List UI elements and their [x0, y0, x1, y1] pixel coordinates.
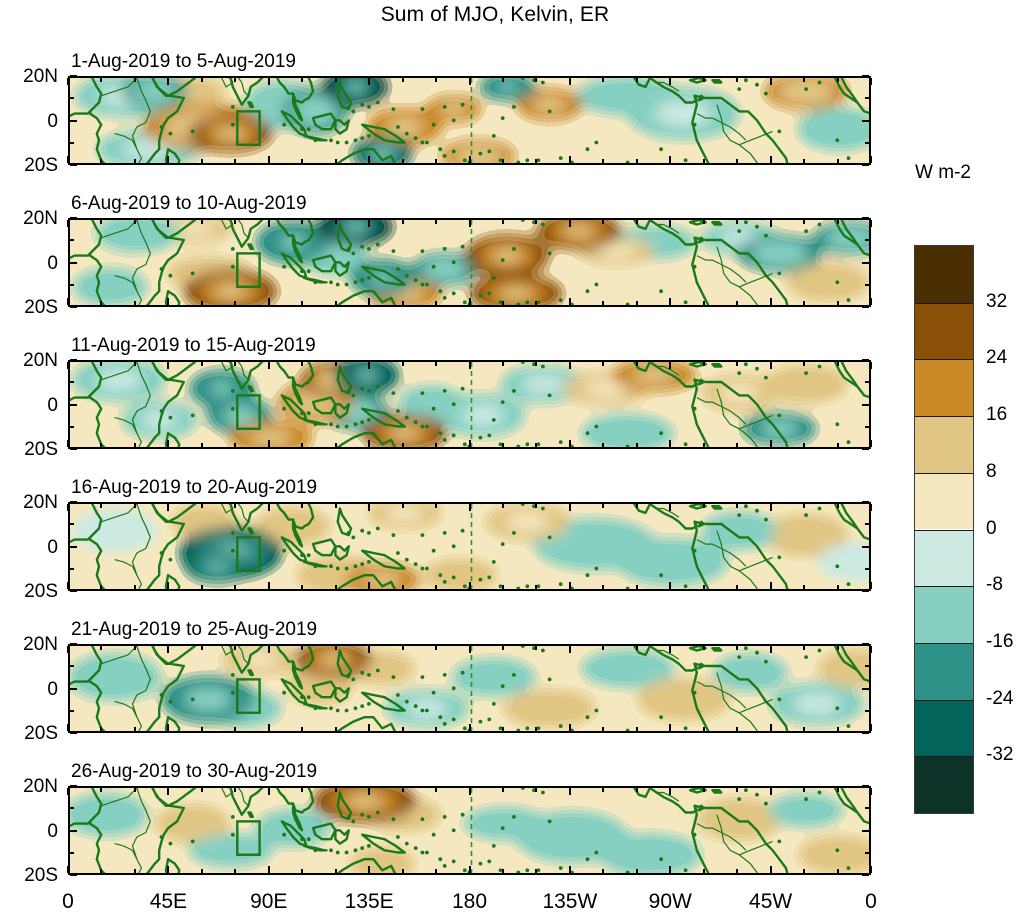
x-tick-mark	[134, 504, 136, 508]
x-tick-mark	[803, 362, 805, 366]
y-tick-mark	[70, 448, 77, 450]
x-tick-mark	[67, 440, 69, 447]
x-tick-mark	[602, 443, 604, 447]
x-tick-mark	[602, 869, 604, 873]
x-tick-mark	[669, 504, 671, 511]
x-tick-mark	[837, 159, 839, 163]
x-tick-mark	[636, 78, 638, 82]
y-tick-mark	[865, 381, 869, 383]
x-tick-mark	[435, 869, 437, 873]
x-tick-mark	[770, 362, 772, 369]
y-tick-mark	[70, 568, 74, 570]
x-tick-mark	[803, 159, 805, 163]
colorbar-tick-label: -8	[986, 575, 1003, 594]
x-tick-mark	[502, 585, 504, 589]
x-tick-mark	[469, 78, 471, 85]
x-tick-mark	[134, 727, 136, 731]
x-tick-mark	[736, 727, 738, 731]
x-tick-mark	[167, 220, 169, 227]
x-tick-mark	[268, 866, 270, 873]
x-tick-mark	[870, 298, 872, 305]
y-tick-mark	[862, 262, 869, 264]
x-tick-mark	[803, 220, 805, 224]
x-axis-tick-label: 0	[821, 891, 921, 912]
y-tick-mark	[865, 239, 869, 241]
x-tick-mark	[301, 301, 303, 305]
y-tick-mark	[70, 262, 77, 264]
x-tick-mark	[234, 504, 236, 508]
x-tick-mark	[67, 646, 69, 653]
x-tick-mark	[770, 298, 772, 305]
x-tick-mark	[435, 727, 437, 731]
x-tick-mark	[100, 301, 102, 305]
y-tick-label: 0	[0, 396, 58, 415]
map-plot-area	[68, 786, 871, 875]
x-tick-mark	[535, 362, 537, 366]
x-tick-mark	[100, 362, 102, 366]
x-tick-mark	[335, 727, 337, 731]
x-tick-mark	[837, 504, 839, 508]
y-tick-mark	[862, 359, 869, 361]
x-tick-mark	[402, 159, 404, 163]
y-tick-mark	[862, 501, 869, 503]
y-tick-mark	[862, 732, 869, 734]
x-tick-mark	[402, 869, 404, 873]
x-tick-mark	[234, 443, 236, 447]
x-tick-mark	[201, 301, 203, 305]
x-tick-mark	[636, 727, 638, 731]
y-tick-mark	[862, 448, 869, 450]
x-tick-mark	[301, 727, 303, 731]
x-tick-mark	[167, 866, 169, 873]
colorbar-tick-label: 8	[986, 462, 997, 481]
x-tick-mark	[870, 220, 872, 227]
x-tick-mark	[435, 788, 437, 792]
x-tick-mark	[67, 362, 69, 369]
y-tick-label: 20N	[0, 209, 58, 228]
x-tick-mark	[234, 301, 236, 305]
x-tick-mark	[837, 788, 839, 792]
x-tick-mark	[134, 159, 136, 163]
panel-date-range: 1-Aug-2019 to 5-Aug-2019	[71, 52, 296, 71]
x-tick-mark	[368, 646, 370, 653]
x-tick-mark	[636, 301, 638, 305]
y-tick-label: 0	[0, 254, 58, 273]
x-tick-mark	[134, 220, 136, 224]
x-tick-mark	[67, 156, 69, 163]
x-tick-mark	[703, 301, 705, 305]
panel-date-range: 26-Aug-2019 to 30-Aug-2019	[71, 762, 317, 781]
x-tick-mark	[770, 788, 772, 795]
colorbar-band	[915, 359, 973, 416]
x-tick-mark	[837, 869, 839, 873]
x-tick-mark	[134, 646, 136, 650]
x-tick-mark	[602, 646, 604, 650]
y-tick-mark	[865, 523, 869, 525]
x-tick-mark	[803, 788, 805, 792]
x-tick-mark	[201, 788, 203, 792]
x-tick-mark	[837, 646, 839, 650]
y-tick-mark	[70, 643, 77, 645]
x-tick-mark	[803, 443, 805, 447]
x-tick-mark	[469, 582, 471, 589]
y-tick-mark	[70, 426, 74, 428]
x-tick-mark	[100, 78, 102, 82]
y-tick-mark	[862, 306, 869, 308]
x-tick-mark	[535, 78, 537, 82]
x-tick-mark	[803, 585, 805, 589]
x-tick-mark	[368, 504, 370, 511]
panel-date-range: 11-Aug-2019 to 15-Aug-2019	[71, 336, 316, 355]
y-tick-mark	[865, 568, 869, 570]
x-tick-mark	[636, 504, 638, 508]
x-tick-mark	[167, 504, 169, 511]
x-tick-mark	[803, 727, 805, 731]
x-tick-mark	[736, 301, 738, 305]
x-tick-mark	[268, 582, 270, 589]
x-tick-mark	[602, 220, 604, 224]
x-tick-mark	[301, 646, 303, 650]
x-tick-mark	[636, 646, 638, 650]
x-tick-mark	[569, 788, 571, 795]
y-tick-label: 20N	[0, 351, 58, 370]
x-tick-mark	[100, 443, 102, 447]
x-tick-mark	[602, 585, 604, 589]
x-tick-mark	[435, 362, 437, 366]
colorbar-band	[915, 643, 973, 700]
y-tick-mark	[865, 665, 869, 667]
x-tick-mark	[502, 727, 504, 731]
panel-date-range: 16-Aug-2019 to 20-Aug-2019	[71, 478, 317, 497]
x-tick-mark	[201, 159, 203, 163]
x-tick-mark	[669, 156, 671, 163]
x-tick-mark	[502, 788, 504, 792]
y-tick-mark	[862, 120, 869, 122]
x-tick-mark	[736, 443, 738, 447]
y-tick-mark	[862, 785, 869, 787]
colorbar-band-separator	[915, 416, 973, 417]
x-tick-mark	[268, 362, 270, 369]
x-tick-mark	[167, 362, 169, 369]
x-axis-tick-label: 45E	[118, 891, 218, 912]
x-tick-mark	[167, 724, 169, 731]
x-tick-mark	[234, 727, 236, 731]
y-tick-label: 0	[0, 680, 58, 699]
x-tick-mark	[368, 156, 370, 163]
y-tick-mark	[70, 807, 74, 809]
x-tick-mark	[569, 220, 571, 227]
x-tick-mark	[870, 362, 872, 369]
panel-date-range: 6-Aug-2019 to 10-Aug-2019	[71, 194, 307, 213]
x-tick-mark	[569, 362, 571, 369]
y-tick-mark	[70, 501, 77, 503]
x-tick-mark	[201, 504, 203, 508]
x-tick-mark	[770, 78, 772, 85]
x-tick-mark	[100, 159, 102, 163]
y-tick-mark	[70, 239, 74, 241]
y-tick-mark	[862, 590, 869, 592]
x-tick-mark	[100, 727, 102, 731]
map-plot-area	[68, 360, 871, 449]
x-tick-mark	[669, 582, 671, 589]
x-tick-mark	[402, 362, 404, 366]
x-tick-mark	[703, 788, 705, 792]
y-tick-label: 20N	[0, 777, 58, 796]
x-tick-mark	[535, 220, 537, 224]
map-plot-area	[68, 644, 871, 733]
y-tick-mark	[865, 807, 869, 809]
colorbar-tick-label: 24	[986, 348, 1007, 367]
x-tick-mark	[502, 78, 504, 82]
x-tick-mark	[736, 585, 738, 589]
x-tick-mark	[669, 724, 671, 731]
x-tick-mark	[870, 440, 872, 447]
x-tick-mark	[268, 78, 270, 85]
x-axis-tick-label: 135E	[319, 891, 419, 912]
x-tick-mark	[469, 298, 471, 305]
x-tick-mark	[602, 301, 604, 305]
x-tick-mark	[803, 301, 805, 305]
x-tick-mark	[201, 220, 203, 224]
y-tick-mark	[70, 523, 74, 525]
x-tick-mark	[368, 298, 370, 305]
x-axis-tick-label: 90E	[219, 891, 319, 912]
colorbar-band-separator	[915, 530, 973, 531]
colorbar-band-separator	[915, 700, 973, 701]
x-tick-mark	[636, 869, 638, 873]
x-tick-mark	[100, 585, 102, 589]
x-tick-mark	[201, 727, 203, 731]
colorbar	[914, 245, 974, 814]
x-tick-mark	[167, 582, 169, 589]
colorbar-band-separator	[915, 359, 973, 360]
y-tick-label: 20S	[0, 582, 58, 601]
colorbar-band	[915, 416, 973, 473]
x-tick-mark	[770, 646, 772, 653]
map-plot-area	[68, 502, 871, 591]
x-tick-mark	[201, 869, 203, 873]
x-tick-mark	[669, 440, 671, 447]
x-tick-mark	[703, 504, 705, 508]
y-tick-label: 20S	[0, 866, 58, 885]
y-tick-mark	[862, 874, 869, 876]
x-tick-mark	[502, 220, 504, 224]
x-tick-mark	[268, 504, 270, 511]
x-tick-mark	[134, 362, 136, 366]
x-tick-mark	[201, 585, 203, 589]
x-tick-mark	[502, 362, 504, 366]
x-tick-mark	[669, 298, 671, 305]
x-tick-mark	[703, 585, 705, 589]
colorbar-band-separator	[915, 643, 973, 644]
x-tick-mark	[535, 727, 537, 731]
x-tick-mark	[703, 220, 705, 224]
x-tick-mark	[703, 727, 705, 731]
x-tick-mark	[469, 724, 471, 731]
y-tick-mark	[70, 830, 77, 832]
x-tick-mark	[435, 585, 437, 589]
x-tick-mark	[736, 159, 738, 163]
x-tick-mark	[770, 724, 772, 731]
y-tick-mark	[70, 142, 74, 144]
y-tick-mark	[862, 688, 869, 690]
x-tick-mark	[636, 220, 638, 224]
x-tick-mark	[569, 582, 571, 589]
y-tick-mark	[70, 404, 77, 406]
x-tick-mark	[268, 156, 270, 163]
x-tick-mark	[301, 159, 303, 163]
x-tick-mark	[435, 220, 437, 224]
x-tick-mark	[602, 504, 604, 508]
x-tick-mark	[803, 646, 805, 650]
x-tick-mark	[535, 646, 537, 650]
x-tick-mark	[602, 788, 604, 792]
x-tick-mark	[402, 727, 404, 731]
x-tick-mark	[569, 156, 571, 163]
colorbar-band-separator	[915, 473, 973, 474]
x-tick-mark	[636, 788, 638, 792]
colorbar-tick-label: 32	[986, 292, 1007, 311]
x-tick-mark	[100, 788, 102, 792]
y-tick-mark	[70, 590, 77, 592]
x-tick-mark	[435, 78, 437, 82]
x-tick-mark	[335, 362, 337, 366]
x-tick-mark	[402, 585, 404, 589]
x-tick-mark	[535, 869, 537, 873]
x-tick-mark	[870, 788, 872, 795]
x-tick-mark	[435, 504, 437, 508]
x-tick-mark	[301, 869, 303, 873]
x-tick-mark	[837, 301, 839, 305]
x-tick-mark	[234, 159, 236, 163]
x-tick-mark	[134, 443, 136, 447]
x-tick-mark	[669, 78, 671, 85]
x-tick-mark	[335, 220, 337, 224]
x-tick-mark	[703, 159, 705, 163]
y-tick-mark	[865, 97, 869, 99]
x-tick-mark	[167, 156, 169, 163]
x-tick-mark	[402, 504, 404, 508]
y-tick-mark	[862, 546, 869, 548]
y-tick-mark	[70, 546, 77, 548]
y-tick-mark	[70, 381, 74, 383]
x-tick-mark	[837, 220, 839, 224]
y-tick-mark	[70, 665, 74, 667]
x-tick-mark	[569, 646, 571, 653]
y-tick-label: 20N	[0, 635, 58, 654]
x-tick-mark	[770, 220, 772, 227]
x-tick-mark	[67, 866, 69, 873]
x-tick-mark	[402, 646, 404, 650]
x-tick-mark	[770, 504, 772, 511]
y-tick-mark	[862, 830, 869, 832]
y-tick-mark	[862, 75, 869, 77]
x-tick-mark	[502, 159, 504, 163]
x-tick-mark	[402, 443, 404, 447]
x-tick-mark	[837, 727, 839, 731]
x-tick-mark	[368, 866, 370, 873]
x-tick-mark	[335, 443, 337, 447]
colorbar-tick-label: -32	[986, 745, 1013, 764]
x-tick-mark	[100, 646, 102, 650]
y-tick-label: 0	[0, 822, 58, 841]
x-tick-mark	[636, 159, 638, 163]
x-tick-mark	[335, 504, 337, 508]
x-tick-mark	[368, 362, 370, 369]
x-tick-mark	[435, 159, 437, 163]
x-tick-mark	[736, 78, 738, 82]
x-axis-tick-label: 180	[420, 891, 520, 912]
colorbar-band	[915, 756, 973, 813]
x-tick-mark	[435, 646, 437, 650]
x-tick-mark	[335, 646, 337, 650]
y-tick-mark	[70, 710, 74, 712]
x-tick-mark	[770, 582, 772, 589]
x-tick-mark	[535, 504, 537, 508]
y-tick-mark	[70, 732, 77, 734]
x-tick-mark	[870, 866, 872, 873]
x-tick-mark	[234, 220, 236, 224]
x-tick-mark	[335, 78, 337, 82]
x-tick-mark	[100, 220, 102, 224]
x-axis-tick-label: 0	[18, 891, 118, 912]
x-tick-mark	[301, 78, 303, 82]
y-tick-mark	[70, 852, 74, 854]
x-tick-mark	[703, 646, 705, 650]
x-tick-mark	[67, 504, 69, 511]
x-tick-mark	[669, 866, 671, 873]
x-tick-mark	[301, 504, 303, 508]
x-tick-mark	[636, 362, 638, 366]
y-tick-mark	[865, 426, 869, 428]
x-tick-mark	[67, 298, 69, 305]
x-tick-mark	[837, 362, 839, 366]
x-tick-mark	[736, 220, 738, 224]
x-tick-mark	[234, 788, 236, 792]
y-tick-mark	[70, 785, 77, 787]
x-tick-mark	[268, 440, 270, 447]
x-tick-mark	[569, 298, 571, 305]
x-tick-mark	[535, 788, 537, 792]
x-tick-mark	[100, 504, 102, 508]
y-tick-mark	[70, 120, 77, 122]
map-plot-area	[68, 76, 871, 165]
x-tick-mark	[803, 869, 805, 873]
figure-title: Sum of MJO, Kelvin, ER	[0, 3, 990, 27]
colorbar-unit-label: W m-2	[854, 163, 1021, 182]
x-tick-mark	[234, 78, 236, 82]
y-tick-mark	[70, 306, 77, 308]
x-tick-mark	[535, 301, 537, 305]
x-tick-mark	[770, 440, 772, 447]
x-tick-mark	[636, 585, 638, 589]
x-tick-mark	[469, 646, 471, 653]
x-tick-mark	[870, 504, 872, 511]
x-tick-mark	[469, 788, 471, 795]
colorbar-band-separator	[915, 303, 973, 304]
x-axis-tick-label: 45W	[721, 891, 821, 912]
colorbar-tick-label: 0	[986, 519, 997, 538]
x-tick-mark	[736, 788, 738, 792]
x-tick-mark	[67, 78, 69, 85]
x-tick-mark	[67, 220, 69, 227]
x-tick-mark	[803, 504, 805, 508]
x-tick-mark	[502, 443, 504, 447]
x-tick-mark	[268, 646, 270, 653]
x-tick-mark	[167, 646, 169, 653]
x-tick-mark	[201, 646, 203, 650]
colorbar-band	[915, 586, 973, 643]
